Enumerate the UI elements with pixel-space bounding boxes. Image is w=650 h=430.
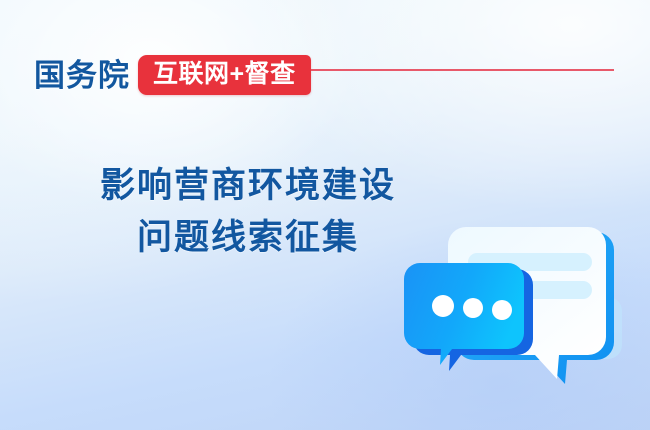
small-speech-bubble <box>404 263 533 371</box>
government-name: 国务院 <box>34 60 130 91</box>
page-title-line-1: 影响营商环境建设 <box>36 160 460 212</box>
chat-bubbles-illustration <box>398 205 634 405</box>
page-title-line-2: 问题线索征集 <box>36 212 460 264</box>
government-notice-banner: 国务院 互联网+督查 影响营商环境建设 问题线索征集 <box>0 0 650 430</box>
program-badge-label: 互联网+督查 <box>153 62 296 87</box>
masthead: 国务院 互联网+督查 <box>34 52 614 98</box>
program-badge[interactable]: 互联网+督查 <box>138 55 311 95</box>
masthead-divider-rule <box>311 69 614 71</box>
page-title: 影响营商环境建设 问题线索征集 <box>36 160 460 264</box>
